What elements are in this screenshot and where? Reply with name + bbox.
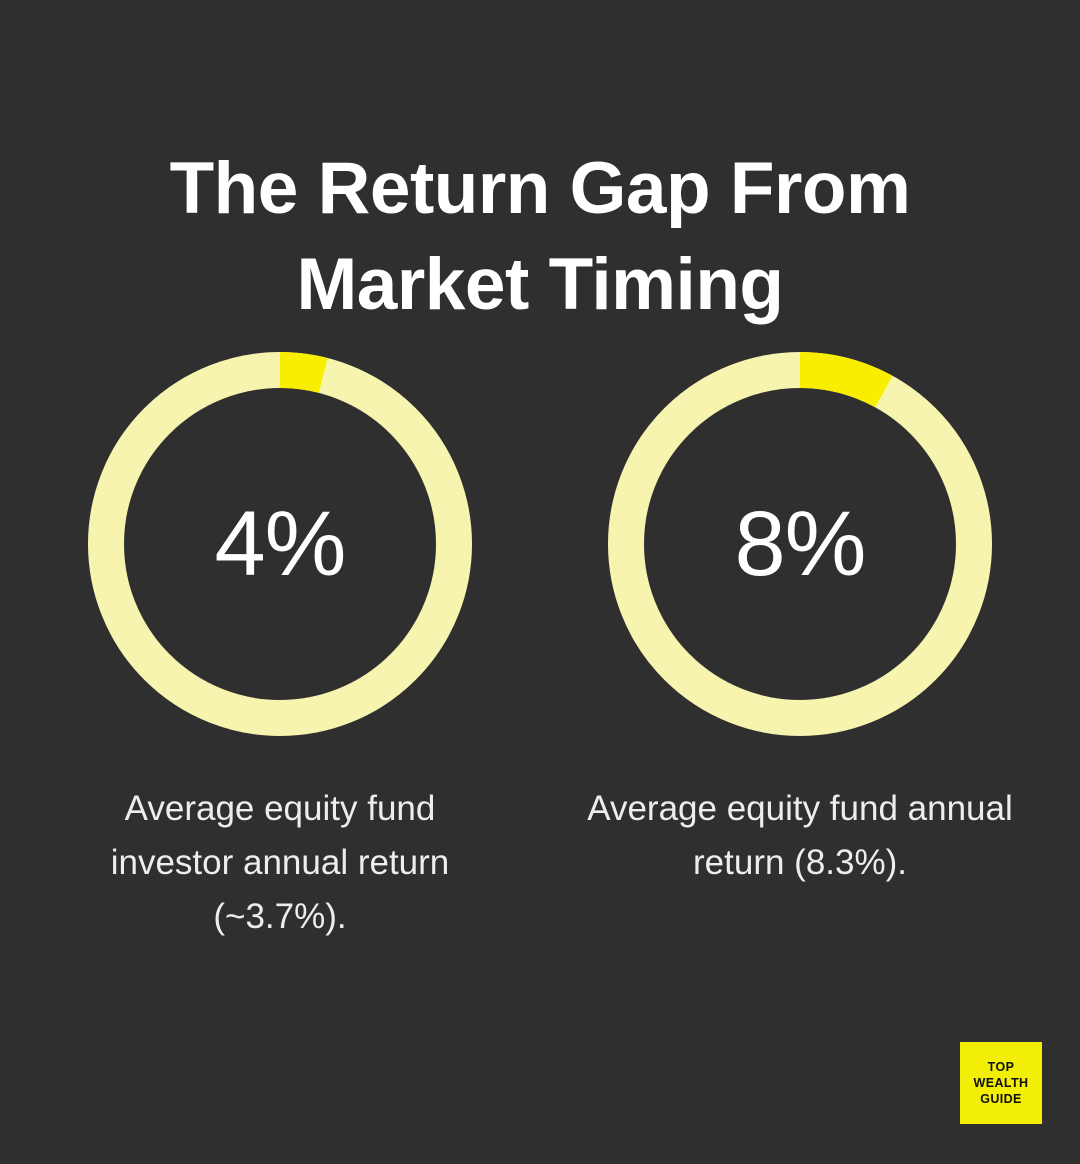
infographic-canvas: The Return Gap From Market Timing 4% Ave… (0, 0, 1080, 1164)
donut-center-label-fund-return: 8% (608, 352, 992, 736)
brand-logo-badge: TOP WEALTH GUIDE (960, 1042, 1042, 1124)
donut-chart-row: 4% Average equity fund investor annual r… (0, 352, 1080, 944)
donut-chart-fund-return: 8% (608, 352, 992, 736)
donut-center-label-investor-return: 4% (88, 352, 472, 736)
donut-card-fund-return: 8% Average equity fund annual return (8.… (598, 352, 1002, 944)
donut-card-investor-return: 4% Average equity fund investor annual r… (78, 352, 482, 944)
donut-chart-investor-return: 4% (88, 352, 472, 736)
brand-logo-line-3: GUIDE (980, 1091, 1022, 1107)
donut-caption-fund-return: Average equity fund annual return (8.3%)… (585, 782, 1015, 890)
page-title: The Return Gap From Market Timing (0, 141, 1080, 333)
brand-logo-line-2: WEALTH (974, 1075, 1029, 1091)
donut-caption-investor-return: Average equity fund investor annual retu… (65, 782, 495, 944)
brand-logo-line-1: TOP (988, 1059, 1015, 1075)
page-title-line-1: The Return Gap From (0, 141, 1080, 237)
page-title-line-2: Market Timing (0, 237, 1080, 333)
